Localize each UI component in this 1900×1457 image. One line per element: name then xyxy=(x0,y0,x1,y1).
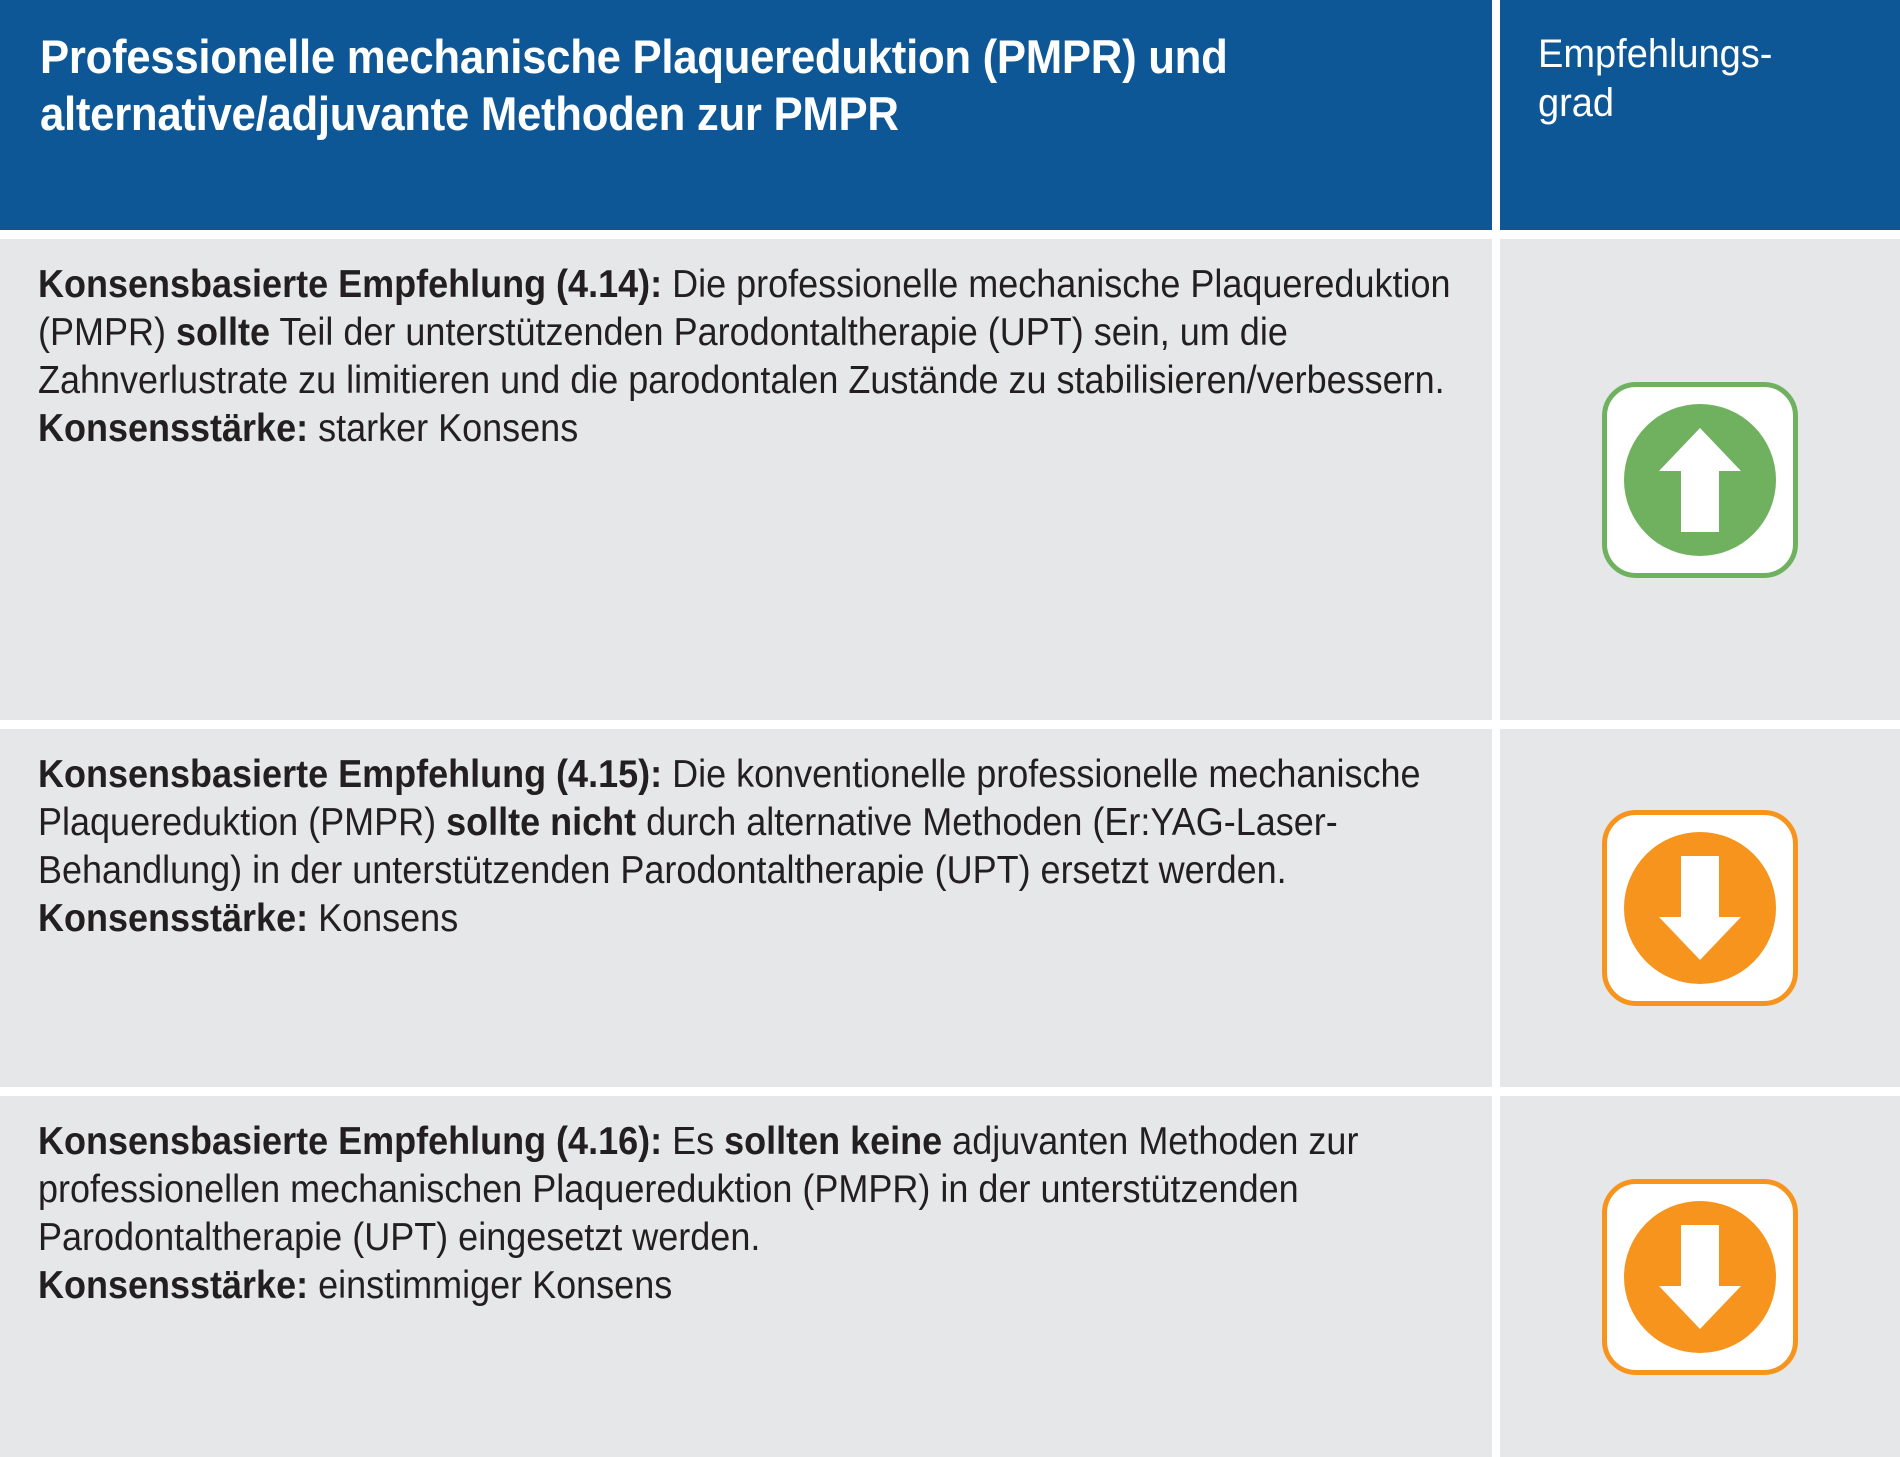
consensus-line: Konsensstärke: einstimmiger Konsens xyxy=(38,1262,1453,1310)
grade-disc xyxy=(1624,1201,1776,1353)
table-row: Konsensbasierte Empfehlung (4.14): Die p… xyxy=(0,239,1900,720)
page-title: Professionelle mechanische Plaqueredukti… xyxy=(40,28,1362,143)
recommendation-text: Konsensbasierte Empfehlung (4.14): Die p… xyxy=(38,261,1453,453)
grade-disc xyxy=(1624,832,1776,984)
table-row: Konsensbasierte Empfehlung (4.15): Die k… xyxy=(0,729,1900,1087)
grade-cell xyxy=(1500,729,1900,1087)
consensus-value: einstimmiger Konsens xyxy=(308,1264,672,1307)
recommendation-emphasis: sollte xyxy=(176,311,270,354)
recommendation-label: Konsensbasierte Empfehlung (4.16): xyxy=(38,1120,662,1163)
recommendation-text-cell: Konsensbasierte Empfehlung (4.15): Die k… xyxy=(0,729,1492,1087)
arrow-down-glyph xyxy=(1657,1223,1743,1331)
recommendation-text-cell: Konsensbasierte Empfehlung (4.16): Es so… xyxy=(0,1096,1492,1457)
recommendation-text: Konsensbasierte Empfehlung (4.15): Die k… xyxy=(38,751,1453,943)
grade-cell xyxy=(1500,239,1900,720)
recommendation-label: Konsensbasierte Empfehlung (4.15): xyxy=(38,753,662,796)
column-divider xyxy=(1492,729,1500,1087)
grade-disc xyxy=(1624,404,1776,556)
recommendation-label: Konsensbasierte Empfehlung (4.14): xyxy=(38,263,662,306)
arrow-down-icon xyxy=(1602,810,1798,1006)
arrow-up-icon xyxy=(1602,382,1798,578)
row-separator xyxy=(0,720,1900,729)
recommendation-table: Professionelle mechanische Plaqueredukti… xyxy=(0,0,1900,1448)
row-separator xyxy=(0,1087,1900,1096)
table-row: Konsensbasierte Empfehlung (4.16): Es so… xyxy=(0,1096,1900,1457)
header-grade-label: Empfehlungs- grad xyxy=(1538,30,1772,128)
consensus-value: starker Konsens xyxy=(308,407,578,450)
recommendation-emphasis: sollten keine xyxy=(724,1120,942,1163)
arrow-down-glyph xyxy=(1657,854,1743,962)
column-divider xyxy=(1492,239,1500,720)
table-header-row: Professionelle mechanische Plaqueredukti… xyxy=(0,0,1900,230)
arrow-down-icon xyxy=(1602,1179,1798,1375)
header-title-cell: Professionelle mechanische Plaqueredukti… xyxy=(0,0,1492,230)
recommendation-text: Konsensbasierte Empfehlung (4.16): Es so… xyxy=(38,1118,1453,1310)
header-column-divider xyxy=(1492,0,1500,230)
consensus-label: Konsensstärke: xyxy=(38,407,308,450)
header-grade-cell: Empfehlungs- grad xyxy=(1500,0,1900,230)
consensus-line: Konsensstärke: Konsens xyxy=(38,895,1453,943)
consensus-value: Konsens xyxy=(308,897,458,940)
recommendation-emphasis: sollte nicht xyxy=(446,801,636,844)
consensus-line: Konsensstärke: starker Konsens xyxy=(38,405,1453,453)
recommendation-text-cell: Konsensbasierte Empfehlung (4.14): Die p… xyxy=(0,239,1492,720)
row-separator xyxy=(0,230,1900,239)
column-divider xyxy=(1492,1096,1500,1457)
consensus-label: Konsensstärke: xyxy=(38,1264,308,1307)
recommendation-body-part-1: Es xyxy=(662,1120,724,1163)
arrow-up-glyph xyxy=(1657,426,1743,534)
grade-cell xyxy=(1500,1096,1900,1457)
consensus-label: Konsensstärke: xyxy=(38,897,308,940)
